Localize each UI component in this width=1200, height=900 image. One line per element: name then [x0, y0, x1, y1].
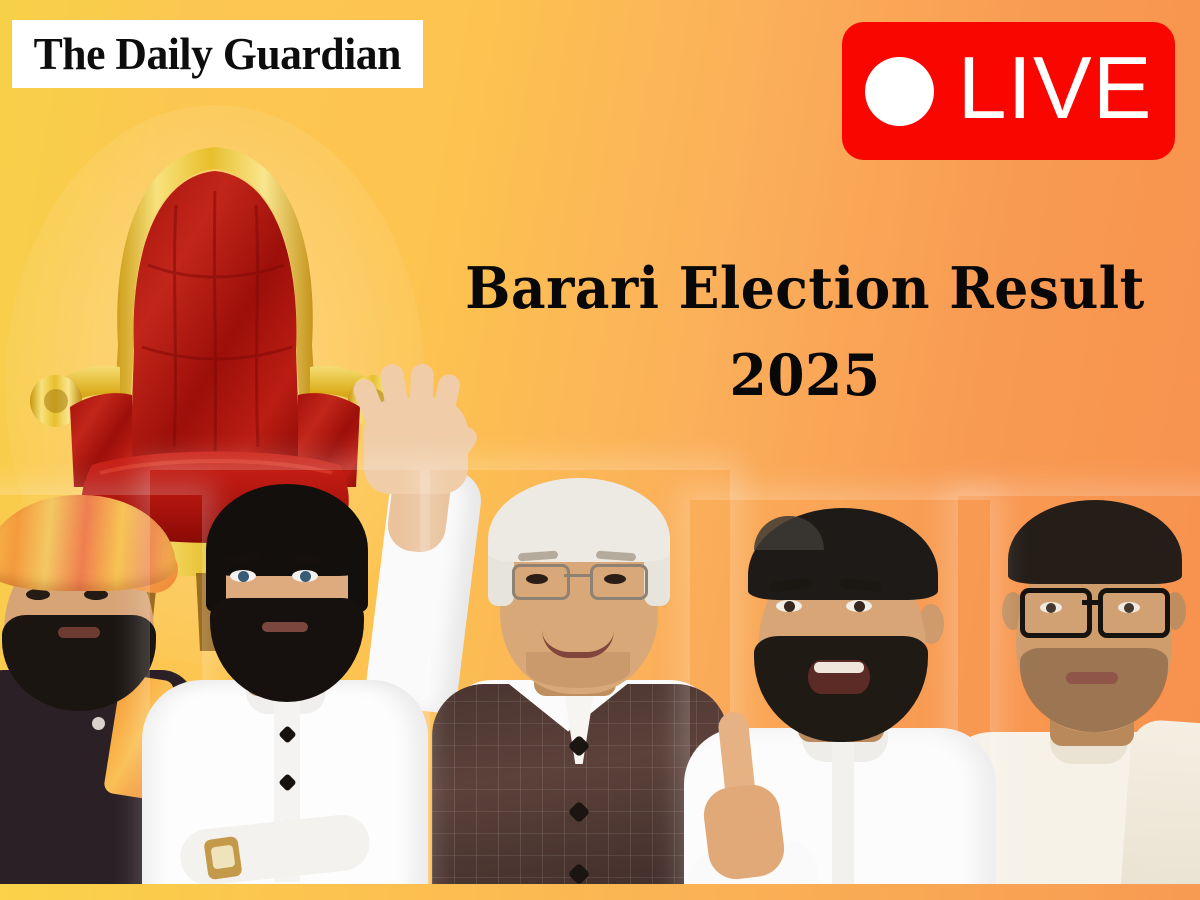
wristwatch-face: [211, 845, 236, 870]
record-dot-icon: [865, 57, 934, 126]
publication-logo[interactable]: The Daily Guardian: [12, 20, 423, 88]
live-badge[interactable]: LIVE: [842, 22, 1175, 160]
page-title: Barari Election Result 2025: [462, 246, 1148, 419]
kurta-placket: [832, 732, 854, 900]
gesturing-hand: [701, 782, 788, 883]
stubble: [1020, 648, 1168, 732]
right-pupil: [300, 571, 311, 582]
mouth: [1066, 672, 1118, 684]
publication-logo-text: The Daily Guardian: [34, 32, 401, 77]
headline-line-1: Barari Election Result: [465, 255, 1145, 322]
left-pupil: [784, 601, 795, 612]
glasses-bridge: [564, 574, 590, 577]
election-result-poster: Barari Election Result 2025 The Daily Gu…: [0, 0, 1200, 900]
politician-bearded-young: [150, 470, 420, 900]
mouth: [58, 627, 100, 638]
right-eye: [604, 574, 626, 584]
right-pupil: [854, 601, 865, 612]
bottom-gradient-strip: [0, 884, 1200, 900]
shawl-right: [1120, 718, 1200, 900]
teeth: [814, 662, 864, 673]
glasses-bridge: [1082, 600, 1100, 605]
live-badge-label: LIVE: [958, 44, 1153, 132]
left-eye: [526, 574, 548, 584]
white-hair: [488, 478, 670, 562]
mouth: [262, 622, 308, 632]
headline-line-2: 2025: [462, 333, 1148, 420]
kurta-button: [92, 717, 105, 730]
glasses-right-lens: [1098, 588, 1170, 638]
left-pupil: [238, 571, 249, 582]
hair: [1008, 500, 1182, 584]
glasses-left-lens: [1020, 588, 1092, 638]
politician-speaking: [690, 500, 990, 900]
